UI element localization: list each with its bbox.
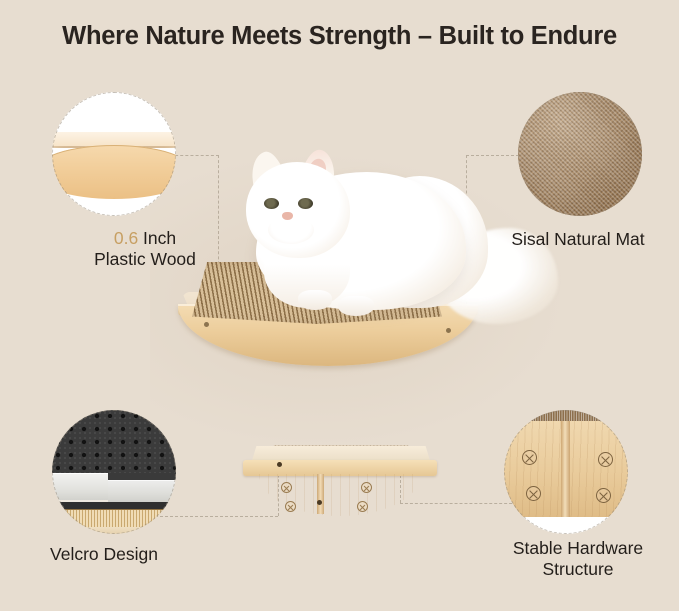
shelf2-underside (259, 474, 421, 516)
shelf-underside-photo (237, 432, 443, 518)
wood-main-band (52, 145, 176, 199)
label-plastic-wood-material: Plastic Wood (94, 249, 196, 269)
velcro-strip-left (52, 473, 108, 500)
cat-eye-left (264, 198, 279, 209)
label-velcro: Velcro Design (50, 544, 270, 565)
cat-head (246, 162, 350, 258)
callout-circle-plastic-wood (52, 92, 176, 216)
shelf2-screw-4 (357, 501, 368, 512)
label-plastic-wood: 0.6 Inch Plastic Wood (50, 228, 240, 270)
shelf2-screw-1 (281, 482, 292, 493)
shelf2-screw-3 (285, 501, 296, 512)
hardware-white-base (504, 517, 628, 534)
cat-muzzle (268, 216, 314, 244)
velcro-wood-base (52, 527, 176, 534)
hardware-screw-bottom-left (526, 486, 541, 501)
shelf2-pin-bottom (317, 500, 322, 505)
callout-circle-velcro (52, 410, 176, 534)
hardware-screw-top-left (522, 450, 537, 465)
shelf2-pin-top (277, 462, 282, 467)
shelf2-screw-2 (361, 482, 372, 493)
callout-circle-sisal (518, 92, 642, 216)
cat-photo (210, 150, 510, 350)
page-title: Where Nature Meets Strength – Built to E… (0, 22, 679, 51)
callout-circle-hardware (504, 410, 628, 534)
velcro-dark-gap (108, 473, 176, 480)
label-hardware: Stable Hardware Structure (478, 538, 678, 580)
hardware-sisal-edge (504, 410, 628, 421)
main-product-photo (170, 150, 530, 410)
cat-front-paw-left (298, 290, 332, 310)
cat-eye-right (298, 198, 313, 209)
shelf2-center-rib (317, 474, 324, 514)
label-sisal: Sisal Natural Mat (478, 229, 678, 250)
label-plastic-wood-unit: Inch (138, 228, 176, 248)
velcro-strip-right (108, 480, 176, 503)
hardware-screw-top-right (598, 452, 613, 467)
label-hardware-line2: Structure (543, 559, 614, 579)
label-hardware-line1: Stable Hardware (513, 538, 643, 558)
velcro-wood-comb (52, 509, 176, 528)
label-plastic-wood-value: 0.6 (114, 228, 138, 248)
sisal-shading (518, 92, 642, 216)
shelf-screw-left (204, 322, 209, 327)
cat-nose (282, 212, 293, 220)
velcro-hook-felt (52, 410, 176, 473)
infographic-canvas: Where Nature Meets Strength – Built to E… (0, 0, 679, 611)
hardware-center-divider (561, 421, 570, 517)
cat-front-paw-right (338, 296, 374, 316)
hardware-screw-bottom-right (596, 488, 611, 503)
